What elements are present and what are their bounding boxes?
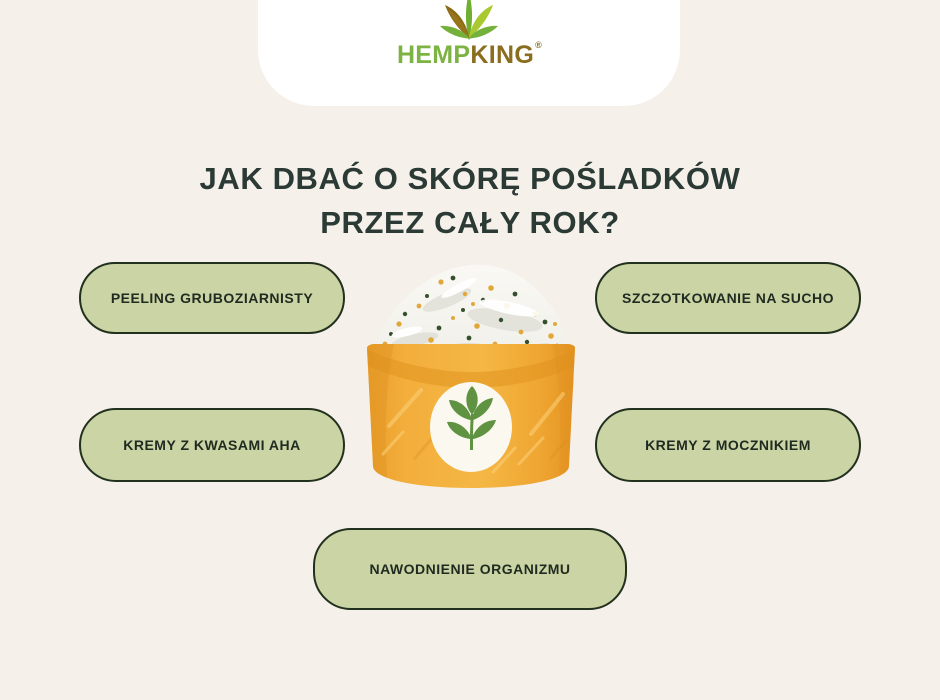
trademark-symbol: ® [535,40,542,50]
infographic-canvas: HEMPKING® JAK DBAĆ O SKÓRĘ POŚLADKÓW PRZ… [0,0,940,700]
brand-logo-card: HEMPKING® [258,0,680,106]
wordmark-hemp: HEMP [397,41,470,69]
hemp-leaf-icon [426,0,512,42]
tip-pill-szczotkowanie-label: SZCZOTKOWANIE NA SUCHO [622,290,834,306]
brand-wordmark: HEMPKING® [397,43,541,68]
page-title-line-2: PRZEZ CAŁY ROK? [0,201,940,245]
jar-leaf-badge [430,382,512,472]
page-title-line-1: JAK DBAĆ O SKÓRĘ POŚLADKÓW [0,157,940,201]
tip-pill-aha[interactable]: KREMY Z KWASAMI AHA [79,408,345,482]
brand-logo: HEMPKING® [258,0,680,68]
wordmark-king: KING [470,41,534,69]
body-scrub-jar-illustration [355,248,587,500]
tip-pill-szczotkowanie[interactable]: SZCZOTKOWANIE NA SUCHO [595,262,861,334]
tip-pill-mocznik[interactable]: KREMY Z MOCZNIKIEM [595,408,861,482]
tip-pill-nawodnienie[interactable]: NAWODNIENIE ORGANIZMU [313,528,627,610]
tip-pill-nawodnienie-label: NAWODNIENIE ORGANIZMU [369,561,570,577]
tip-pill-peeling-label: PEELING GRUBOZIARNISTY [111,290,313,306]
tip-pill-aha-label: KREMY Z KWASAMI AHA [123,437,301,453]
tip-pill-mocznik-label: KREMY Z MOCZNIKIEM [645,437,811,453]
tip-pill-peeling[interactable]: PEELING GRUBOZIARNISTY [79,262,345,334]
page-title: JAK DBAĆ O SKÓRĘ POŚLADKÓW PRZEZ CAŁY RO… [0,157,940,245]
